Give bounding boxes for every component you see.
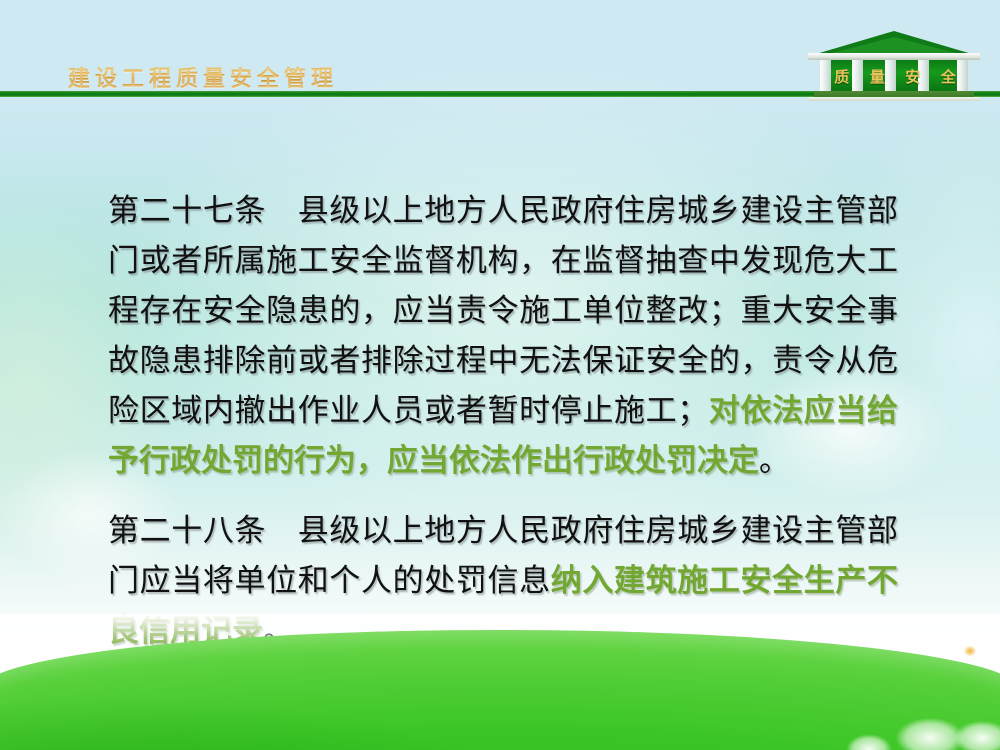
grass-shadow-fold <box>0 680 470 750</box>
paragraph-article-27: 第二十七条 县级以上地方人民政府住房城乡建设主管部门或者所属施工安全监督机构，在… <box>108 186 898 486</box>
temple-column-icon <box>885 60 896 91</box>
field-glow <box>962 644 978 658</box>
temple-step-lower-icon <box>808 97 980 101</box>
temple-column-icon <box>820 60 831 91</box>
temple-roof-highlight-icon <box>828 37 960 54</box>
temple-architrave-icon <box>808 53 980 60</box>
paragraph-run: 。 <box>759 443 790 479</box>
grass-hill <box>0 630 1000 750</box>
temple-column-icon <box>918 60 929 91</box>
page-title: 建设工程质量安全管理 <box>68 61 338 93</box>
quality-safety-logo: 质 量 安 全 <box>806 31 982 103</box>
temple-column-icon <box>957 60 968 91</box>
temple-column-icon <box>852 60 863 91</box>
slide-body: 第二十七条 县级以上地方人民政府住房城乡建设主管部门或者所属施工安全监督机构，在… <box>108 186 898 656</box>
slide: 建设工程质量安全管理 质 量 安 全 第二十七条 县级以上地方人民政府住房城乡建… <box>0 0 1000 750</box>
